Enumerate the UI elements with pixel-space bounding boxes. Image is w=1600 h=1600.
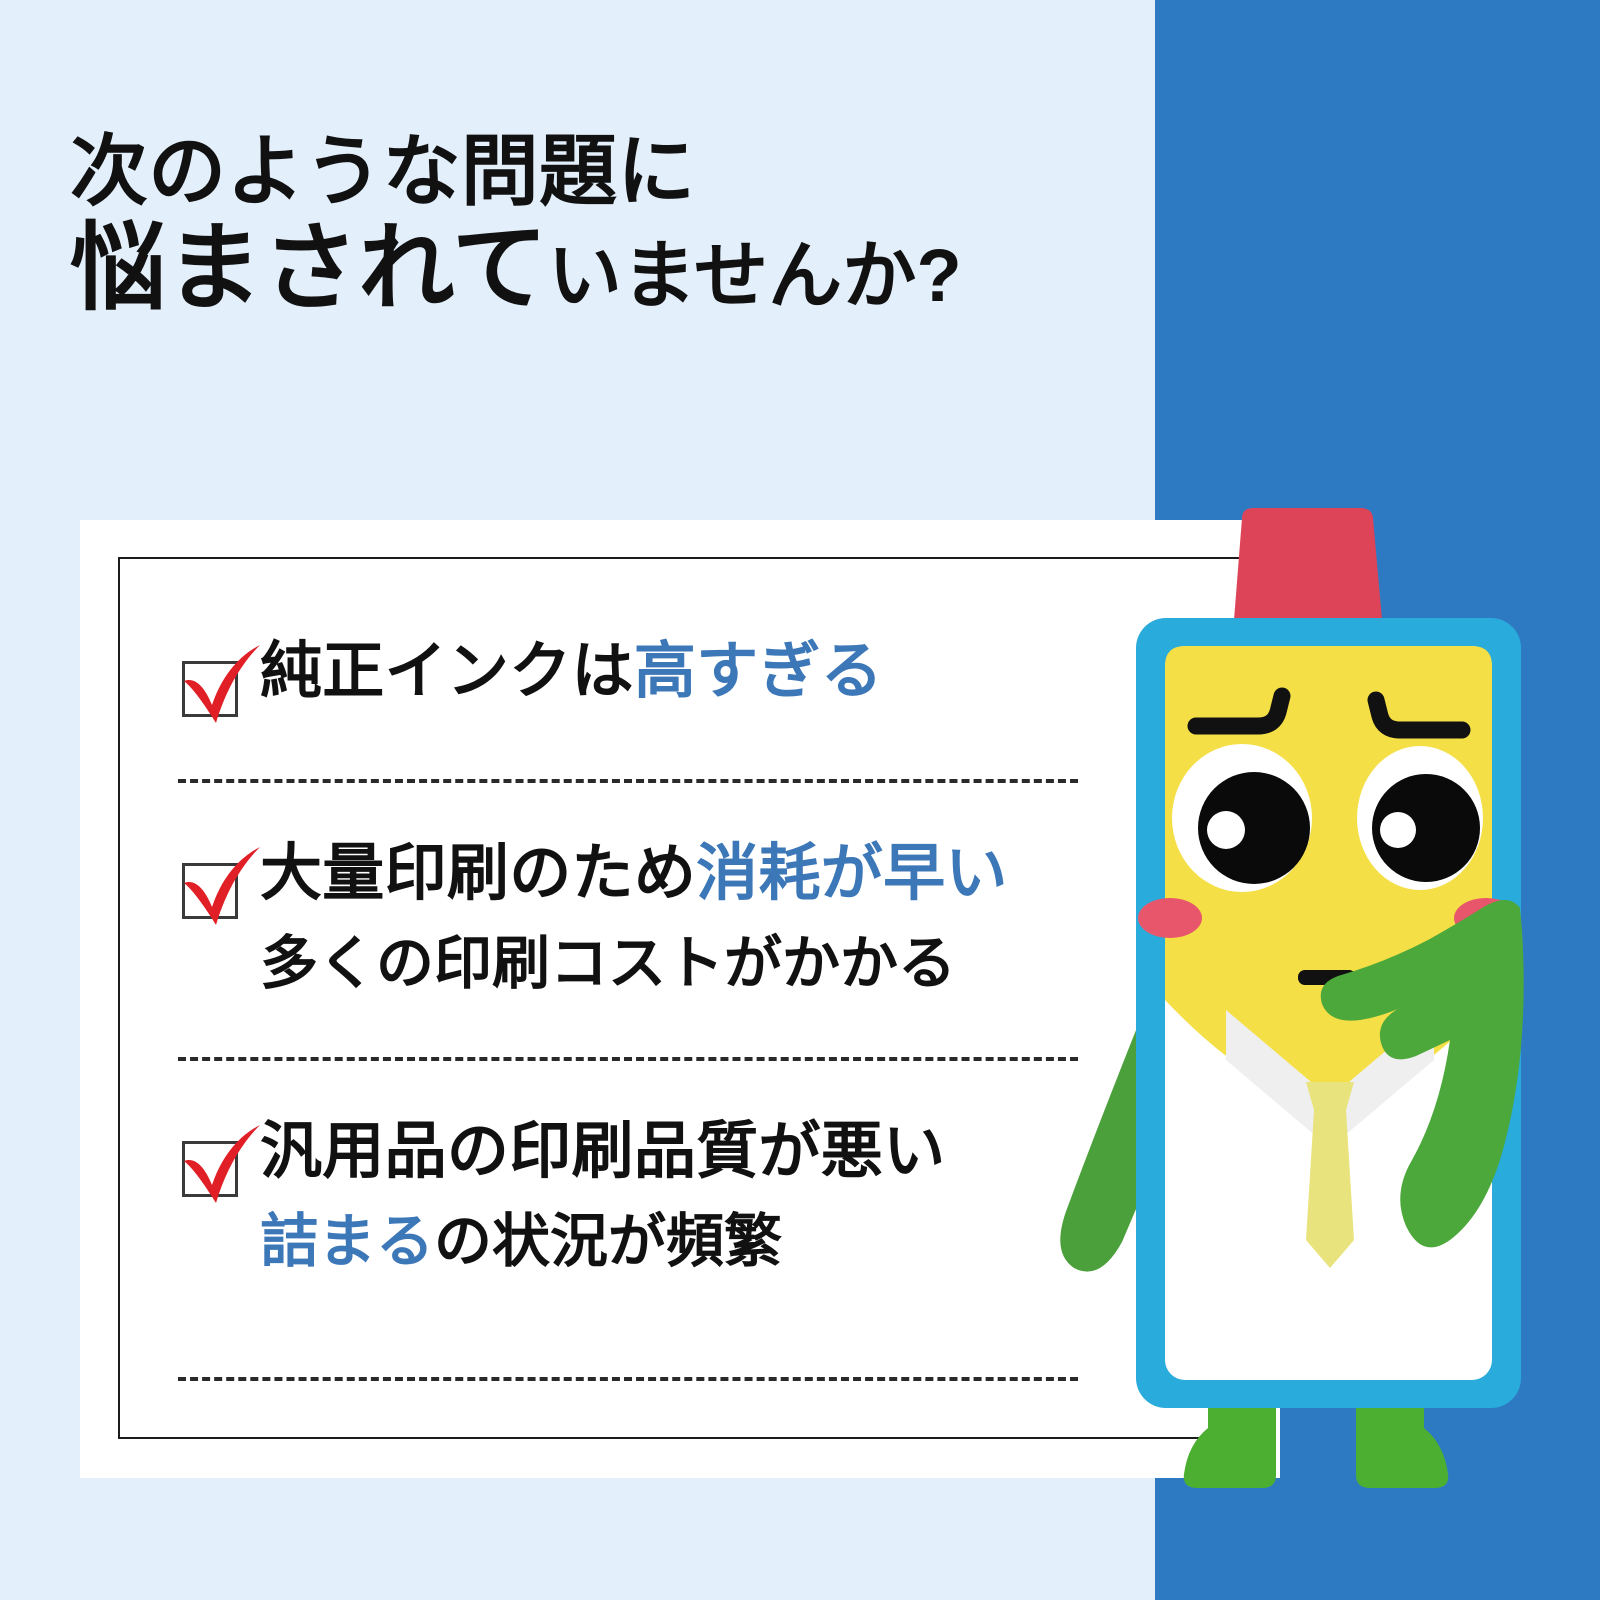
checkbox-checked-icon[interactable] bbox=[178, 853, 244, 919]
list-item[interactable]: 純正インクは高すぎる bbox=[178, 637, 883, 717]
headline-line-2-emphasis: 悩まされて bbox=[70, 215, 548, 322]
list-divider bbox=[178, 779, 1078, 783]
checkbox-checked-icon[interactable] bbox=[178, 651, 244, 717]
list-item-line-2: 詰まるの状況が頻繁 bbox=[260, 1209, 945, 1275]
list-divider bbox=[178, 1057, 1078, 1061]
headline-line-2: 悩まされていませんか? bbox=[70, 221, 1130, 317]
list-item-text-black: 純正インクは bbox=[260, 637, 634, 706]
list-item-subtext-highlight: 詰まる bbox=[260, 1209, 434, 1274]
checkbox-checked-icon[interactable] bbox=[178, 1131, 244, 1197]
eye-left-icon bbox=[1172, 744, 1312, 892]
page-title: 次のような問題に 悩まされていませんか? bbox=[70, 130, 1130, 317]
poster-canvas: 次のような問題に 悩まされていませんか? 純正インクは高すぎる bbox=[0, 0, 1600, 1600]
check-mark-icon bbox=[172, 1117, 268, 1213]
list-item-line-1: 大量印刷のため消耗が早い bbox=[260, 839, 1008, 908]
ink-cartridge-mascot bbox=[1030, 500, 1600, 1460]
problem-checklist: 純正インクは高すぎる 大量印刷のため消耗が早い 多くの印刷コストがかかる bbox=[118, 557, 1158, 1439]
list-item-text-highlight: 高すぎる bbox=[634, 637, 883, 706]
list-item-row: 汎用品の印刷品質が悪い bbox=[178, 1117, 945, 1197]
list-item[interactable]: 汎用品の印刷品質が悪い 詰まるの状況が頻繁 bbox=[178, 1117, 945, 1275]
list-divider bbox=[178, 1377, 1078, 1381]
list-item-line-1: 純正インクは高すぎる bbox=[260, 637, 883, 706]
list-item[interactable]: 大量印刷のため消耗が早い 多くの印刷コストがかかる bbox=[178, 839, 1008, 997]
list-item-text-black: 汎用品の印刷品質が悪い bbox=[260, 1117, 945, 1186]
list-item-subtext-black: 多くの印刷コストがかかる bbox=[260, 931, 956, 996]
list-item-line-2: 多くの印刷コストがかかる bbox=[260, 931, 1008, 997]
leg-left-icon bbox=[1184, 1408, 1276, 1488]
headline-line-1: 次のような問題に bbox=[70, 130, 1130, 213]
check-mark-icon bbox=[172, 839, 268, 935]
leg-right-icon bbox=[1356, 1408, 1448, 1488]
check-mark-icon bbox=[172, 637, 268, 733]
list-item-row: 大量印刷のため消耗が早い bbox=[178, 839, 1008, 919]
cap-icon bbox=[1234, 508, 1382, 620]
list-item-line-1: 汎用品の印刷品質が悪い bbox=[260, 1117, 945, 1186]
list-item-text-black: 大量印刷のため bbox=[260, 839, 696, 908]
list-item-row: 純正インクは高すぎる bbox=[178, 637, 883, 717]
headline-line-2-tail: いませんか? bbox=[548, 234, 962, 317]
list-item-text-highlight: 消耗が早い bbox=[696, 839, 1008, 908]
list-item-subtext-black: の状況が頻繁 bbox=[434, 1209, 782, 1274]
eye-right-icon bbox=[1357, 746, 1483, 890]
blush-left-icon bbox=[1138, 898, 1202, 938]
